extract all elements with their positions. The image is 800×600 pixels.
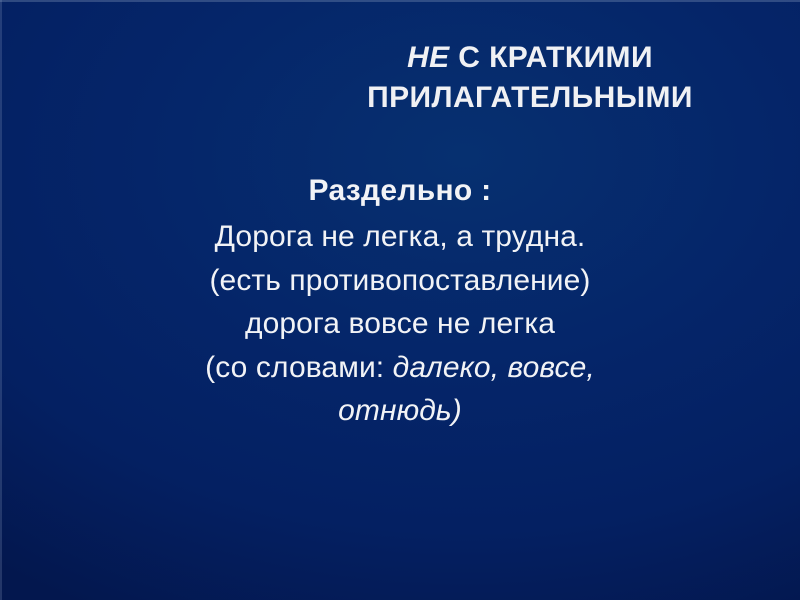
body-line-text: Дорога не легка, а трудна. <box>215 220 586 253</box>
body-line-rule-words-part2: отнюдь) <box>60 392 740 430</box>
presentation-slide: НЕ С КРАТКИМИ ПРИЛАГАТЕЛЬНЫМИ Раздельно … <box>0 0 800 600</box>
body-line-rule-contrast: (есть противопоставление) <box>60 262 740 300</box>
body-line-italic-words: далеко, вовсе, <box>393 351 595 384</box>
slide-left-bevel <box>0 0 2 600</box>
body-line-rule-words-part1: (со словами: далеко, вовсе, <box>60 349 740 387</box>
body-heading: Раздельно : <box>60 172 740 210</box>
slide-title: НЕ С КРАТКИМИ ПРИЛАГАТЕЛЬНЫМИ <box>300 38 760 117</box>
slide-top-bevel <box>0 0 800 2</box>
body-line-example-vovse: дорога вовсе не легка <box>60 305 740 343</box>
body-line-text: дорога вовсе не легка <box>245 307 555 340</box>
body-line-italic-words: отнюдь) <box>338 394 462 427</box>
body-line-example-contrast: Дорога не легка, а трудна. <box>60 218 740 256</box>
body-line-text: (со словами: <box>205 351 393 384</box>
body-line-text: (есть противопоставление) <box>209 264 590 297</box>
slide-title-emphasis: НЕ <box>407 41 449 74</box>
slide-body: Раздельно : Дорога не легка, а трудна. (… <box>60 172 740 435</box>
